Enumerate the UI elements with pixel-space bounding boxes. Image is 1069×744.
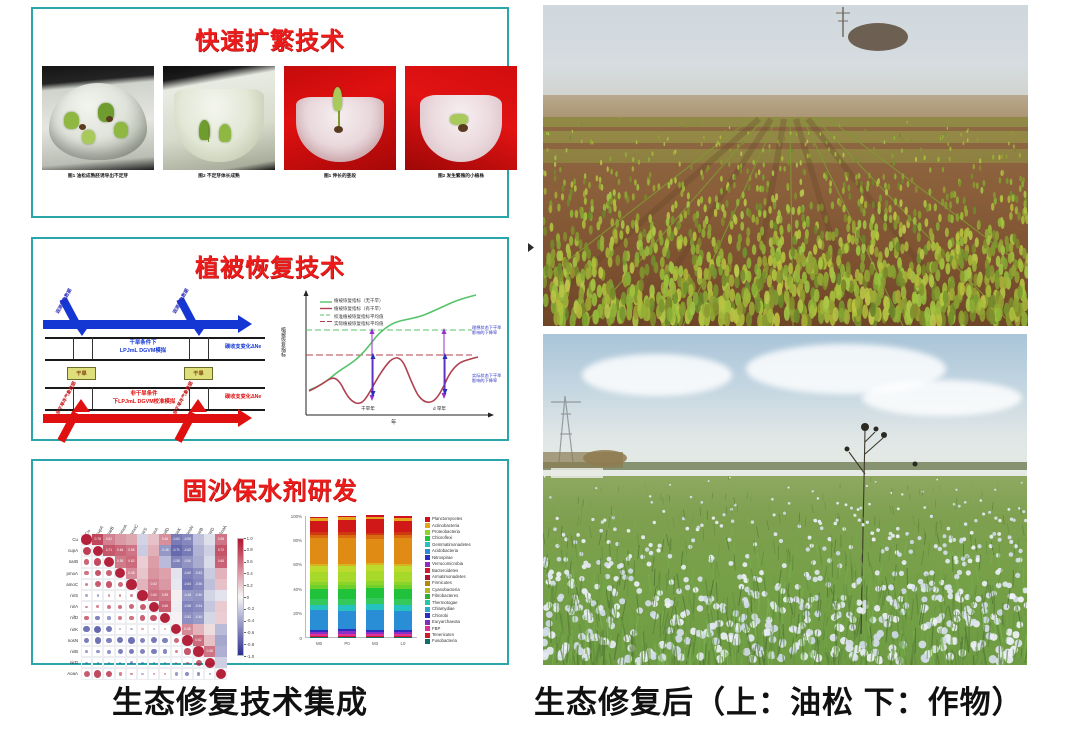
bar-segment (366, 571, 383, 581)
bar-segment (338, 564, 355, 566)
chart-ylabel: 植被恢复指标 (280, 327, 287, 357)
bar-segment (310, 535, 327, 539)
bar-segment (366, 598, 383, 604)
legend-swatch (425, 523, 430, 528)
legend-label: Acidobacteria (432, 549, 458, 553)
bar-ytick-label: 60% (281, 562, 302, 567)
heatmap-cell (171, 579, 182, 590)
bar-segment (394, 634, 411, 635)
bar-segment (394, 518, 411, 521)
heatmap-bubble (106, 581, 112, 587)
bar-segment (366, 632, 383, 634)
heatmap-cell (204, 601, 215, 612)
bar-segment (338, 585, 355, 589)
heatmap-bubble (175, 672, 178, 675)
colorbar-tick (244, 550, 246, 551)
timeline-tick (92, 387, 93, 409)
bar-segment (338, 637, 355, 638)
blue-input-arrow-head (73, 323, 91, 336)
vegetation-body: 观测气象数据 观测气象数据 干旱条件下LPJmL DGVM模拟 碳收支变化ΔNe… (33, 283, 507, 437)
red-input-arrow-head (189, 399, 207, 412)
bar-segment (366, 535, 383, 539)
bar-segment (366, 533, 383, 535)
heatmap-bubble (95, 637, 101, 643)
flask-shape (174, 89, 264, 162)
bar-segment (310, 572, 327, 582)
bar-segment (394, 611, 411, 630)
bar-segment (394, 572, 411, 582)
bar-legend: PlanctomycetesActinobacteriaProteobacter… (425, 516, 471, 645)
colorbar-tick-label: 0.6 (247, 559, 253, 564)
timeline-top-lower (45, 359, 265, 361)
bar-xtick-label: M0 (305, 641, 333, 646)
heatmap-bubble (84, 571, 88, 575)
heatmap-cell-value: -0.55 (182, 534, 193, 545)
bar-segment (366, 637, 383, 638)
legend-label: Actinobacteria (432, 524, 459, 528)
heatmap-bubble (151, 649, 157, 655)
heatmap-bubble (106, 638, 111, 643)
panel-sand-fixing-agent: 固沙保水剂研发 CucupAnarBpmoAamoCnirSnirAnifDni… (31, 459, 509, 665)
bar-segment (394, 538, 411, 564)
bar-segment (338, 532, 355, 534)
bar-segment (310, 632, 327, 634)
heatmap-bubble (140, 604, 146, 610)
heatmap-bubble (107, 616, 110, 619)
heatmap-cell (215, 590, 226, 601)
legend-swatch (425, 588, 430, 593)
propagation-photo-cell-4: 图2 发生繁殖的小植株 (405, 66, 517, 179)
colorbar-tick-label: 0.2 (247, 583, 253, 588)
heatmap-cell-value: -0.46 (193, 612, 204, 623)
legend-swatch (425, 626, 430, 631)
bar-segment (310, 585, 327, 589)
heatmap-bubble (137, 590, 147, 600)
heatmap-cell (204, 556, 215, 567)
heatmap-row-label: pmoA (45, 571, 78, 576)
heatmap-cell-value: -0.58 (171, 556, 182, 567)
heatmap-row-label: nifD (45, 615, 78, 620)
bar-xtick-label: M3 (361, 641, 389, 646)
heatmap-cell-value: -0.52 (182, 612, 193, 623)
chart-annotation-ideal: 理想状态下干旱影响的下降率 (472, 325, 502, 336)
heatmap-bubble (96, 650, 100, 654)
bars-canvas: 020%40%60%80%100%M0P0M3L0PlanctomycetesA… (279, 508, 495, 660)
elongated-shoot-photo (284, 66, 396, 170)
bar-segment (394, 637, 411, 638)
plantlet (450, 114, 468, 125)
legend-swatch (425, 562, 430, 567)
bar-segment (366, 636, 383, 637)
adventitious-bud-growth-photo (163, 66, 275, 170)
bar-segment (366, 517, 383, 520)
timeline-bottom-upper (45, 387, 265, 389)
legend-swatch (425, 542, 430, 547)
colorbar-tick (244, 656, 246, 657)
heatmap-cell-value: 0.48 (182, 624, 193, 635)
heatmap-row-label: nosN (45, 638, 78, 643)
heatmap-cell-value: 0.55 (159, 590, 170, 601)
legend-item: Fusobacteria (425, 638, 471, 644)
legend-label: 植被恢复指标（无干旱） (334, 298, 384, 304)
bar-segment (338, 636, 355, 637)
legend-swatch (425, 639, 430, 644)
colorbar-tick (244, 609, 246, 610)
photo-caption: 图1 伸长的茎段 (283, 173, 397, 179)
heatmap-cell (148, 545, 159, 556)
heatmap-cell (193, 545, 204, 556)
heatmap-bubble (107, 605, 111, 609)
bar-segment (310, 589, 327, 599)
heatmap-cell-value: -0.56 (193, 579, 204, 590)
community-composition-chart: 020%40%60%80%100%M0P0M3L0PlanctomycetesA… (279, 508, 495, 660)
bar-segment (310, 518, 327, 521)
colorbar-tick (244, 597, 246, 598)
heatmap-cell-value: 0.60 (148, 590, 159, 601)
colorbar-tick (244, 562, 246, 563)
shoot-cluster (82, 130, 95, 144)
heatmap-cell-value: 0.62 (193, 635, 204, 646)
photo-caption: 图1 油松成熟胚诱导出不定芽 (41, 173, 155, 179)
legend-label: Fusobacteria (432, 639, 457, 643)
propagation-photo-row: 图1 油松成熟胚诱导出不定芽 图2 不定芽体长成熟 图1 伸 (33, 66, 507, 179)
heatmap-row-label: Cu (45, 537, 78, 542)
colorbar-tick (244, 585, 246, 586)
legend-label: Thermotogae (432, 601, 458, 605)
bar-segment (310, 532, 327, 534)
legend-label: Proteobacteria (432, 530, 460, 534)
heatmap-row-label: amoC (45, 582, 78, 587)
bar-segment (366, 565, 383, 571)
chart-legend: 植被恢复指标（无干旱） 植被恢复指标（有干旱） 校准植被恢复指标平均值 实际植被… (334, 298, 384, 327)
bar-segment (394, 589, 411, 599)
bar-segment (394, 521, 411, 533)
panel-vegetation-restoration: 植被恢复技术 观测气象数据 观测 (31, 237, 509, 441)
mature-embryo-adventitious-bud-photo (42, 66, 154, 170)
legend-label: Euryarchaeota (432, 620, 460, 624)
bar-segment (338, 517, 355, 520)
heatmap-cell (159, 579, 170, 590)
heatmap-cell-value: 0.71 (103, 545, 114, 556)
heatmap-cell-value: 0.46 (159, 534, 170, 545)
heatmap-cell-value: 0.48 (126, 568, 137, 579)
bar-ytick-label: 0 (281, 636, 302, 641)
bar-segment (394, 564, 411, 566)
heatmap-cell-value: -0.50 (193, 590, 204, 601)
heatmap-cell (204, 579, 215, 590)
carbon-output-top: 碳收支变化ΔNe (225, 343, 261, 350)
bar-segment (394, 535, 411, 539)
heatmap-cell (115, 534, 126, 545)
pine-seedling-field-photo (543, 5, 1028, 326)
timeline-tick (208, 337, 209, 359)
heatmap-cell-value: 0.58 (215, 534, 226, 545)
heatmap-bubble (141, 673, 143, 675)
heatmap-row-label: nirK (45, 627, 78, 632)
drought-box: 干旱 (67, 367, 96, 380)
bar-segment (310, 605, 327, 610)
heatmap-cell (193, 624, 204, 635)
legend-label: FBP (432, 627, 440, 631)
colorbar-tick-label: -1.0 (247, 654, 255, 659)
bar-segment (394, 599, 411, 605)
colorbar-tick-label: 0 (247, 595, 249, 600)
heatmap-cell (204, 534, 215, 545)
heatmap-cell-value: 0.52 (103, 534, 114, 545)
photo-caption: 图2 不定芽体长成熟 (162, 173, 276, 179)
heatmap-colorbar (237, 538, 244, 656)
legend-swatch (425, 594, 430, 599)
bar-segment (366, 581, 383, 585)
bar-segment (310, 634, 327, 635)
bar-segment (338, 611, 355, 629)
heatmap-cell-value: 0.72 (215, 545, 226, 556)
heatmap-cell-value: -0.52 (193, 568, 204, 579)
heatmap-bubble (85, 662, 87, 664)
chart-xtick: d 旱年 (433, 406, 446, 412)
legend-label: Fibrobacteres (432, 594, 458, 598)
heatmap-cell (215, 657, 226, 668)
blue-arrow-head (238, 315, 252, 333)
legend-label: Firmicutes (432, 581, 452, 585)
propagation-photo-cell-2: 图2 不定芽体长成熟 (163, 66, 275, 179)
legend-swatch (425, 568, 430, 573)
dgvm-top-label: 干旱条件下LPJmL DGVM模拟 (97, 339, 189, 355)
colorbar-tick (244, 632, 246, 633)
bar-segment (366, 563, 383, 565)
heatmap-bubble (130, 594, 133, 597)
bar-segment (310, 637, 327, 638)
legend-label: Chlamydiae (432, 607, 455, 611)
heatmap-bubble (162, 638, 167, 643)
bar-ytick-label: 80% (281, 538, 302, 543)
heatmap-cell (148, 534, 159, 545)
heatmap-bubble (128, 637, 135, 644)
heatmap-bubble (175, 650, 178, 653)
bar-segment (338, 535, 355, 539)
legend-label: Chloroflexi (432, 536, 452, 540)
heatmap-bubble (85, 594, 87, 596)
heatmap-cell (171, 601, 182, 612)
heatmap-bubble (106, 570, 112, 576)
heatmap-bubble (182, 635, 192, 645)
legend-label: Armatimonadetes (432, 575, 466, 579)
shoot-apex (333, 87, 342, 111)
chart-annotation-actual: 实际状态下干旱影响的下降率 (472, 373, 502, 384)
heatmap-bubble (93, 546, 103, 556)
heatmap-cell (215, 635, 226, 646)
bar-segment (310, 566, 327, 572)
bar-segment (310, 599, 327, 605)
bar-segment (338, 634, 355, 635)
heatmap-cell-value: -0.62 (171, 534, 182, 545)
callus-tissue (458, 124, 468, 132)
heatmap-bubble (94, 558, 101, 565)
heatmap-row-label: nirA (45, 604, 78, 609)
regenerated-plantlet-photo (405, 66, 517, 170)
bar-segment (338, 566, 355, 572)
heatmap-cell-value: 0.58 (204, 646, 215, 657)
bar-segment (310, 636, 327, 637)
bar-segment (338, 631, 355, 634)
heatmap-bubble (84, 559, 89, 564)
colorbar-tick-label: -0.4 (247, 618, 255, 623)
bar-segment (310, 517, 327, 519)
figure-canvas: 快速扩繁技术 图1 油松成熟胚诱导出不定芽 (0, 0, 1069, 744)
panel-title-propagation: 快速扩繁技术 (33, 21, 507, 56)
bar-segment (338, 520, 355, 532)
heatmap-cell-value: 0.78 (92, 534, 103, 545)
timeline-tick (189, 337, 190, 359)
heatmap-cell (159, 568, 170, 579)
heatmap-bubble (129, 616, 133, 620)
bar-segment (310, 538, 327, 564)
bar-segment (394, 566, 411, 572)
heatmap-cell (171, 568, 182, 579)
legend-swatch (425, 517, 430, 522)
colorbar-tick-label: -0.2 (247, 606, 255, 611)
legend-swatch (425, 607, 430, 612)
heatmap-cell (193, 556, 204, 567)
dgvm-flow-diagram: 观测气象数据 观测气象数据 干旱条件下LPJmL DGVM模拟 碳收支变化ΔNe… (39, 287, 276, 437)
legend-swatch (425, 620, 430, 625)
bar-segment (338, 516, 355, 517)
heatmap-bubble (97, 662, 99, 664)
heatmap-cell-value: -0.58 (182, 601, 193, 612)
red-arrow-head (238, 409, 252, 427)
colorbar-tick-label: -0.6 (247, 630, 255, 635)
bar-segment (394, 585, 411, 589)
heatmap-cell (204, 635, 215, 646)
bar-segment (394, 630, 411, 632)
heatmap-cell-value: 0.62 (126, 556, 137, 567)
seedling-rows (543, 5, 1028, 326)
caption-left: 生态修复技术集成 (112, 677, 368, 722)
heatmap-cell-value: 0.66 (215, 556, 226, 567)
callus-tissue (106, 116, 113, 122)
chart-xtick: 干旱年 (361, 406, 375, 412)
legend-label: 校准植被恢复指标平均值 (334, 314, 384, 320)
legend-swatch (425, 575, 430, 580)
caption-right: 生态修复后（上：油松 下：作物） (534, 677, 1024, 722)
bar-segment (310, 610, 327, 630)
recovery-index-plot (276, 287, 501, 437)
heatmap-cell-value: -0.60 (182, 568, 193, 579)
colorbar-tick-label: 1.0 (247, 536, 253, 541)
heatmap-cell (159, 556, 170, 567)
propagation-photo-cell-3: 图1 伸长的茎段 (284, 66, 396, 179)
legend-label: Chlorobi (432, 614, 448, 618)
timeline-tick (73, 337, 74, 359)
heatmap-cell-value: -0.48 (159, 545, 170, 556)
flax-crop-field-photo (543, 334, 1027, 665)
legend-label: 植被恢复指标（有干旱） (334, 306, 384, 312)
heatmap-row-label: narB (45, 559, 78, 564)
bar-segment (366, 515, 383, 517)
bar-segment (366, 585, 383, 589)
shoot-cluster (219, 124, 231, 142)
heatmap-bubble (153, 662, 155, 664)
heatmap-cell-value: 0.66 (159, 601, 170, 612)
bar-segment (394, 636, 411, 637)
heatmap-cell (137, 534, 148, 545)
heatmap-cell (148, 556, 159, 567)
heatmap-bubble (126, 579, 136, 589)
heatmap-row-label: nirB (45, 649, 78, 654)
heatmap-cell-value: 0.52 (148, 579, 159, 590)
heatmap-bubble (174, 638, 179, 643)
heatmap-cell (215, 568, 226, 579)
legend-swatch (425, 600, 430, 605)
heatmap-cell (148, 568, 159, 579)
heatmap-bubble (184, 648, 190, 654)
heatmap-cell (126, 534, 137, 545)
heatmap-cell (137, 556, 148, 567)
heatmap-bubble (149, 602, 159, 612)
legend-label: Gemmatimonadetes (432, 543, 471, 547)
colorbar-tick (244, 621, 246, 622)
heatmap-bubble (193, 646, 203, 656)
sand-body: CucupAnarBpmoAamoCnirSnirAnifDnirKnosNni… (33, 506, 507, 660)
bar-segment (338, 589, 355, 599)
legend-label: Cyanobacteria (432, 588, 460, 592)
timeline-tick (208, 387, 209, 409)
heatmap-row-label: nirD (45, 660, 78, 665)
colorbar-tick-label: 0.8 (247, 547, 253, 552)
heatmap-bubble (97, 594, 99, 596)
heatmap-bubble (84, 671, 90, 677)
heatmap-cell (215, 601, 226, 612)
heatmap-cell (204, 568, 215, 579)
heatmap-cell (215, 646, 226, 657)
heatmap-cell (171, 612, 182, 623)
bar-segment (394, 632, 411, 635)
legend-label: 实际植被恢复指标平均值 (334, 321, 384, 327)
heatmap-cell (137, 545, 148, 556)
heatmap-cell-value: -0.71 (171, 545, 182, 556)
heatmap-bubble (118, 582, 123, 587)
bar-xtick-label: L0 (389, 641, 417, 646)
bar-segment (338, 582, 355, 586)
legend-swatch (425, 555, 430, 560)
chart-xlabel: 年 (391, 418, 396, 426)
bar-segment (310, 521, 327, 532)
heatmap-cell (215, 579, 226, 590)
heatmap-cell (193, 534, 204, 545)
heatmap-bubble (118, 649, 123, 654)
bar-segment (338, 572, 355, 582)
heatmap-cell (204, 590, 215, 601)
panel-title-sand-agent: 固沙保水剂研发 (33, 471, 507, 506)
heatmap-cell-value: -0.64 (182, 579, 193, 590)
heatmap-cell (171, 590, 182, 601)
heatmap-cell (204, 545, 215, 556)
heatmap-cell (204, 612, 215, 623)
heatmap-bubble (108, 594, 110, 596)
bar-segment (366, 539, 383, 563)
heatmap-bubble (141, 662, 143, 664)
bar-segment (366, 519, 383, 532)
legend-label: Bacteroidetes (432, 569, 458, 573)
stem (208, 126, 210, 142)
bar-segment (310, 630, 327, 632)
heatmap-bubble (85, 606, 87, 608)
bar-segment (338, 599, 355, 605)
legend-label: Verrucomicrobia (432, 562, 463, 566)
legend-label: Planctomycetes (432, 517, 462, 521)
bar-segment (394, 582, 411, 586)
pointer-marker-icon (528, 243, 534, 252)
